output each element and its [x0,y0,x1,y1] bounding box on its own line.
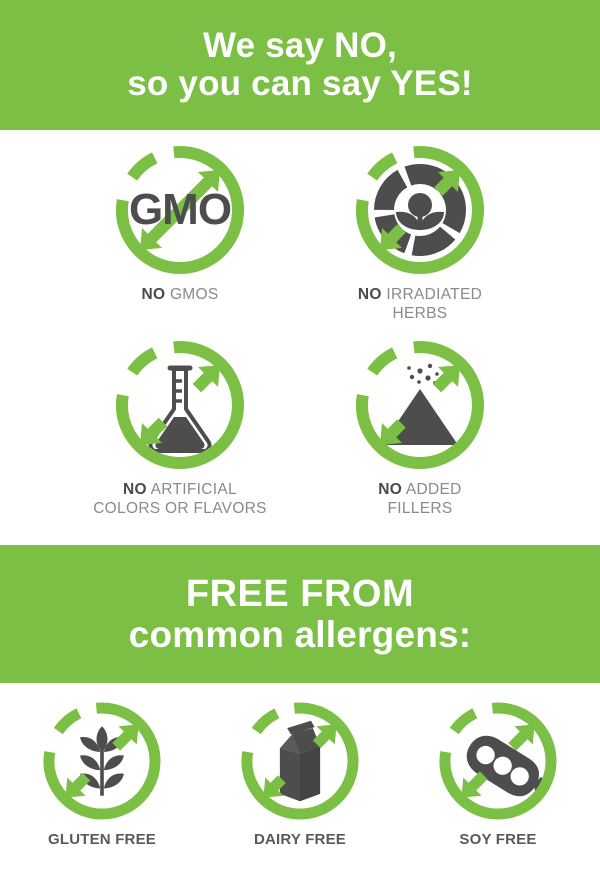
no-claim-label-gmos: NO GMOS [141,286,218,305]
no-rest-line-1: ADDED [406,481,462,498]
wheat-symbol [80,726,124,795]
allergen-item-gluten-free: GLUTEN FREE [37,697,167,848]
no-irradiated-herbs-icon [350,140,490,280]
no-artificial-colors-flask-icon [110,335,250,475]
no-rest-line-1: ARTIFICIAL [151,481,237,498]
allergen-item-soy-free: SOY FREE [433,697,563,848]
no-claim-label-added-fillers: NO ADDED FILLERS [378,481,461,519]
allergen-free-section: GLUTEN FREE [0,697,600,882]
allergen-label-soy-free: SOY FREE [459,831,536,848]
no-claim-item-irradiated-herbs: NO IRRADIATED HERBS [300,140,540,335]
milk-carton-symbol [280,721,320,801]
no-gmo-icon-text: GMO [129,185,231,234]
no-claim-label-artificial-colors: NO ARTIFICIAL COLORS OR FLAVORS [93,481,267,519]
no-claim-item-gmos: GMO NO GMOS [60,140,300,335]
no-claims-grid: GMO NO GMOS [60,140,540,530]
allergen-item-dairy-free: DAIRY FREE [235,697,365,848]
no-rest-line-2: COLORS OR FLAVORS [93,500,267,517]
no-claim-item-added-fillers: NO ADDED FILLERS [300,335,540,530]
no-added-fillers-icon [350,335,490,475]
no-keyword: NO [141,286,165,303]
no-claim-label-irradiated-herbs: NO IRRADIATED HERBS [358,286,482,324]
no-gmo-icon: GMO [110,140,250,280]
header-line-2: so you can say YES! [127,65,473,103]
gluten-free-wheat-icon [38,697,166,825]
allergen-free-row: GLUTEN FREE [0,697,600,848]
no-rest-line-2: HERBS [393,305,448,322]
dairy-free-milk-carton-icon [236,697,364,825]
no-keyword: NO [358,286,382,303]
allergen-banner-line-1: FREE FROM [186,574,414,615]
no-keyword: NO [378,481,402,498]
no-rest-line-1: IRRADIATED [386,286,482,303]
allergen-label-dairy-free: DAIRY FREE [254,831,346,848]
allergen-banner-line-2: common allergens: [129,615,472,655]
soy-free-soybean-icon [434,697,562,825]
no-keyword: NO [123,481,147,498]
header-banner-we-say-no: We say NO, so you can say YES! [0,0,600,130]
no-claim-item-artificial-colors: NO ARTIFICIAL COLORS OR FLAVORS [60,335,300,530]
allergen-label-gluten-free: GLUTEN FREE [48,831,156,848]
allergen-banner-free-from: FREE FROM common allergens: [0,545,600,683]
no-rest-line-1: GMOS [170,286,219,303]
header-line-1: We say NO, [203,27,397,65]
no-rest-line-2: FILLERS [387,500,452,517]
infographic-page: We say NO, so you can say YES! GMO NO GM… [0,0,600,882]
no-claims-section: GMO NO GMOS [0,140,600,540]
